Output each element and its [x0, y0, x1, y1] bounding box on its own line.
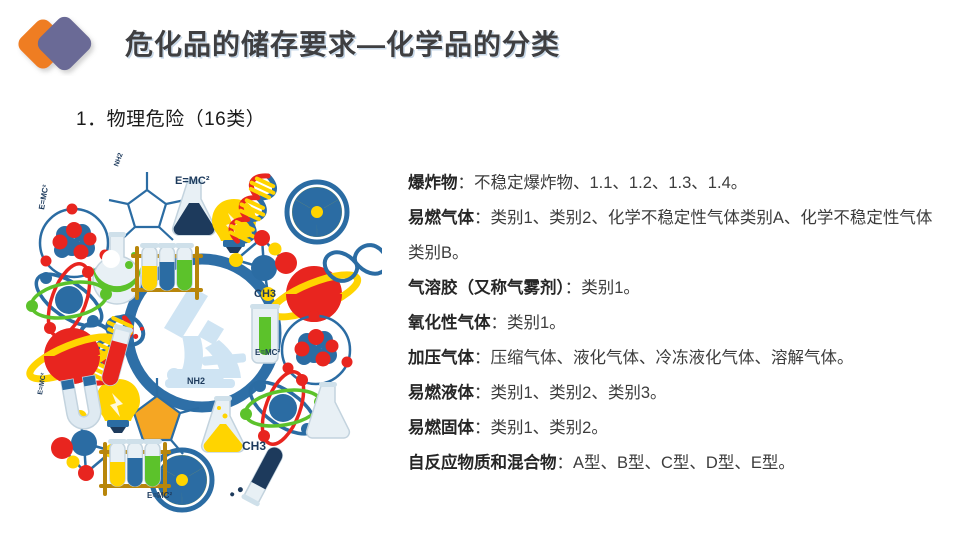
list-item-separator: ： [491, 314, 508, 332]
collage-label-emc2: E=MC² [255, 348, 280, 357]
collage-label-nh2: NH2 [113, 152, 124, 168]
test-tube-rack-icon [101, 439, 169, 494]
list-item: 加压气体：压缩气体、液化气体、冷冻液化气体、溶解气体。 [408, 341, 948, 376]
lightbulb-icon [96, 379, 140, 433]
erlenmeyer-flask-outline-icon [307, 382, 350, 438]
list-item-value: 不稳定爆炸物、1.1、1.2、1.3、1.4。 [474, 174, 747, 192]
list-item-term: 加压气体 [408, 349, 474, 367]
section-subheading: 1．物理危险（16类） [76, 104, 265, 131]
list-item: 自反应物质和混合物：A型、B型、C型、D型、E型。 [408, 446, 948, 481]
collage-label-ch3: CH3 [254, 288, 276, 300]
list-item: 易燃固体：类别1、类别2。 [408, 411, 948, 446]
list-item-separator: ： [557, 454, 574, 472]
list-item: 气溶胶（又称气雾剂）：类别1。 [408, 271, 948, 306]
collage-label-ch3: CH3 [242, 439, 266, 453]
list-item-value: 类别1。 [581, 279, 640, 297]
list-item: 氧化性气体：类别1。 [408, 306, 948, 341]
list-item-separator: ： [474, 209, 491, 227]
list-item-term: 氧化性气体 [408, 314, 491, 332]
list-item: 易燃气体：类别1、类别2、化学不稳定性气体类别A、化学不稳定性气体类别B。 [408, 201, 948, 271]
list-item-value: 类别1、类别2。 [491, 419, 608, 437]
radiation-symbol-icon [285, 182, 350, 243]
overlapping-diamonds-logo-icon [17, 12, 109, 76]
collage-label-emc2: E=MC² [175, 175, 210, 187]
list-item: 爆炸物：不稳定爆炸物、1.1、1.2、1.3、1.4。 [408, 166, 948, 201]
list-item-term: 易燃固体 [408, 419, 474, 437]
svg-text:NH2: NH2 [187, 376, 205, 386]
list-item-value: A型、B型、C型、D型、E型。 [573, 454, 795, 472]
list-item-term: 气溶胶（又称气雾剂） [408, 279, 565, 297]
science-icons-circle-collage-icon: NH2 [22, 150, 382, 515]
list-item-term: 易燃液体 [408, 384, 474, 402]
infinity-loop-icon [325, 245, 382, 281]
classification-list: 爆炸物：不稳定爆炸物、1.1、1.2、1.3、1.4。 易燃气体：类别1、类别2… [408, 166, 948, 481]
list-item-term: 易燃气体 [408, 209, 474, 227]
list-item-separator: ： [565, 279, 582, 297]
list-item-separator: ： [474, 384, 491, 402]
test-tube-rack-icon [133, 243, 201, 298]
list-item: 易燃液体：类别1、类别2、类别3。 [408, 376, 948, 411]
collage-label-emc2: E=MC² [37, 184, 50, 211]
list-item-separator: ： [474, 349, 491, 367]
slide-header: 危化品的储存要求—化学品的分类 [0, 0, 960, 86]
list-item-separator: ： [474, 419, 491, 437]
list-item-separator: ： [458, 174, 475, 192]
list-item-value: 类别1、类别2、类别3。 [491, 384, 667, 402]
page-title: 危化品的储存要求—化学品的分类 [125, 23, 560, 63]
list-item-term: 自反应物质和混合物 [408, 454, 557, 472]
list-item-term: 爆炸物 [408, 174, 458, 192]
list-item-value: 类别1。 [507, 314, 566, 332]
erlenmeyer-flask-dark-icon [173, 179, 216, 235]
list-item-value: 压缩气体、液化气体、冷冻液化气体、溶解气体。 [491, 349, 854, 367]
slide-canvas: 危化品的储存要求—化学品的分类 1．物理危险（16类） [0, 0, 960, 540]
collage-label-emc2: E=MC² [147, 491, 172, 500]
